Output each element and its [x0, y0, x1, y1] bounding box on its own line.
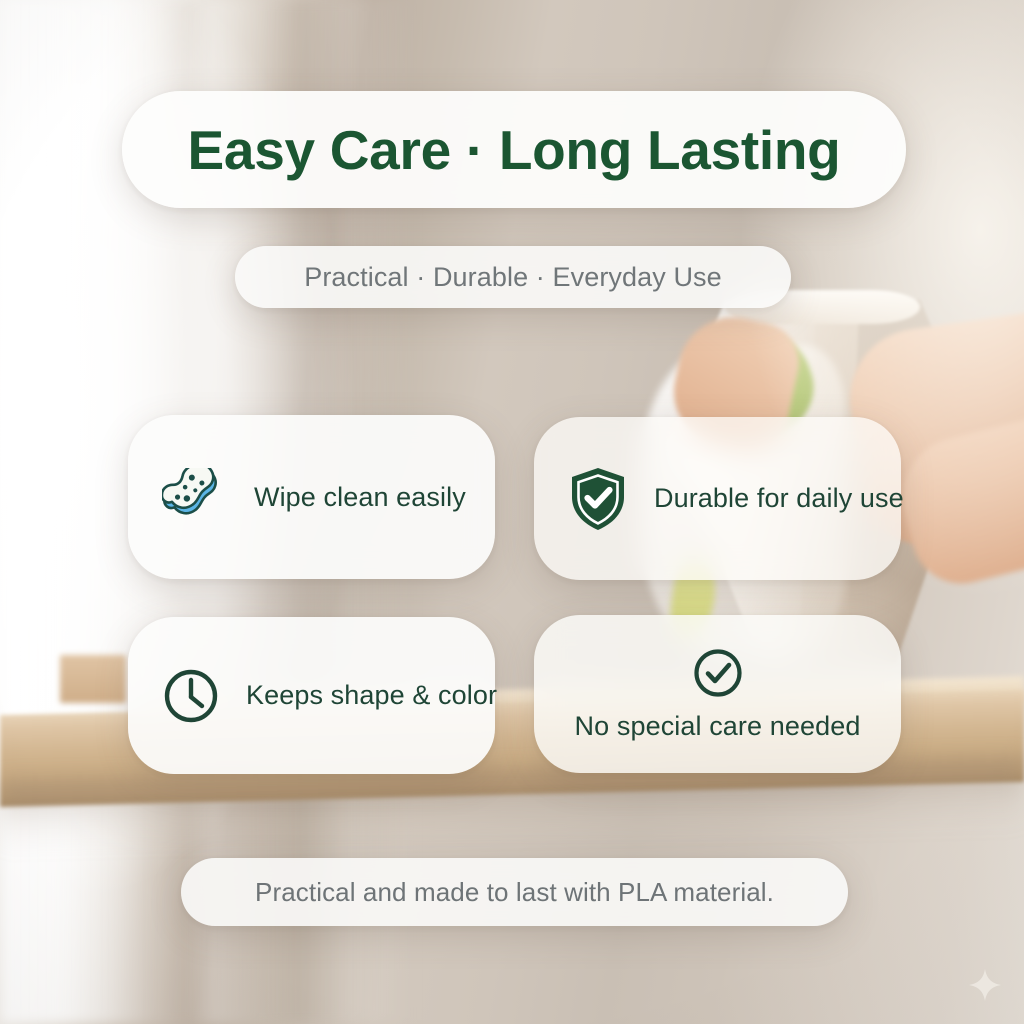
- subtitle-pill: Practical · Durable · Everyday Use: [235, 246, 791, 308]
- sponge-icon: [162, 468, 228, 526]
- feature-label: Durable for daily use: [654, 483, 904, 514]
- page-title: Easy Care · Long Lasting: [188, 118, 841, 182]
- feature-card-wipe-clean[interactable]: Wipe clean easily: [128, 415, 495, 579]
- check-circle-icon: [692, 647, 744, 699]
- sparkle-icon: [968, 968, 1002, 1002]
- clock-icon: [162, 667, 220, 725]
- feature-label: No special care needed: [575, 711, 861, 742]
- footer-pill: Practical and made to last with PLA mate…: [181, 858, 848, 926]
- feature-card-keeps-shape[interactable]: Keeps shape & color: [128, 617, 495, 774]
- feature-label: Wipe clean easily: [254, 482, 466, 513]
- feature-card-durable[interactable]: Durable for daily use: [534, 417, 901, 580]
- infographic-canvas: Easy Care · Long Lasting Practical · Dur…: [0, 0, 1024, 1024]
- footer-text: Practical and made to last with PLA mate…: [255, 877, 774, 908]
- feature-card-no-special-care[interactable]: No special care needed: [534, 615, 901, 773]
- page-subtitle: Practical · Durable · Everyday Use: [304, 262, 722, 293]
- title-pill: Easy Care · Long Lasting: [122, 91, 906, 208]
- feature-label: Keeps shape & color: [246, 680, 497, 711]
- shield-check-icon: [568, 466, 628, 532]
